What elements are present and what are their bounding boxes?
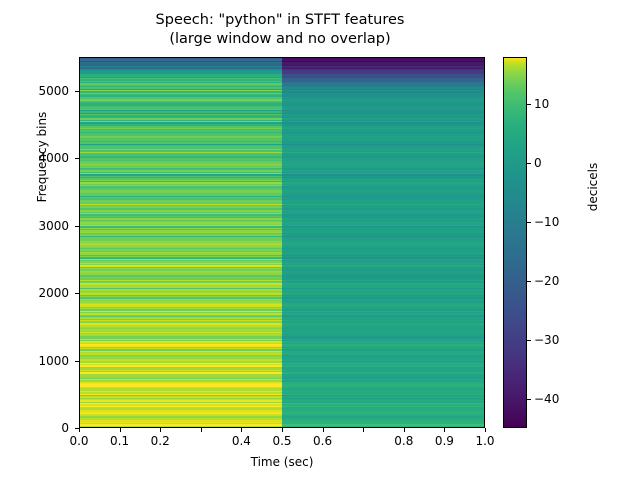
x-tick-label: 0.1 (110, 434, 129, 448)
x-tick-mark (79, 428, 80, 432)
spectrogram-heatmap (80, 58, 484, 427)
colorbar-tick-mark (527, 281, 531, 282)
x-tick-mark (241, 428, 242, 432)
colorbar-tick-mark (527, 340, 531, 341)
colorbar-tick-mark (527, 399, 531, 400)
x-tick-label: 0.4 (232, 434, 251, 448)
colorbar-tick-label: 10 (534, 97, 549, 111)
x-tick-label: 0.6 (313, 434, 332, 448)
y-tick-label: 0 (0, 421, 69, 435)
spectrogram-axes (79, 57, 485, 428)
figure-title: Speech: "python" in STFT features (large… (0, 11, 560, 49)
x-tick-mark (160, 428, 161, 432)
x-tick-label: 0.2 (151, 434, 170, 448)
y-tick-mark (75, 361, 79, 362)
y-tick-mark (75, 226, 79, 227)
y-tick-mark (75, 158, 79, 159)
y-tick-label: 2000 (0, 286, 69, 300)
colorbar (503, 57, 527, 428)
y-tick-mark (75, 293, 79, 294)
x-tick-label: 0.8 (394, 434, 413, 448)
y-axis-title: Frequency bins (35, 77, 49, 237)
y-tick-label: 1000 (0, 354, 69, 368)
colorbar-tick-mark (527, 163, 531, 164)
x-tick-mark (120, 428, 121, 432)
spectrogram-figure: Speech: "python" in STFT features (large… (0, 0, 640, 480)
y-tick-mark (75, 91, 79, 92)
x-tick-label: 0.9 (435, 434, 454, 448)
colorbar-tick-label: −10 (534, 215, 559, 229)
y-tick-mark (75, 428, 79, 429)
x-tick-mark (363, 428, 364, 432)
x-tick-mark (323, 428, 324, 432)
colorbar-title: decicels (586, 122, 600, 252)
x-tick-mark (282, 428, 283, 432)
x-tick-mark (485, 428, 486, 432)
colorbar-tick-label: −40 (534, 392, 559, 406)
x-axis-title: Time (sec) (79, 455, 485, 469)
x-tick-mark (404, 428, 405, 432)
x-tick-label: 0.0 (69, 434, 88, 448)
spectrogram-cell-silence (282, 426, 484, 428)
colorbar-tick-mark (527, 222, 531, 223)
colorbar-tick-label: −30 (534, 333, 559, 347)
x-tick-label: 0.5 (272, 434, 291, 448)
spectrogram-cell-speech (80, 426, 282, 428)
colorbar-tick-label: 0 (534, 156, 542, 170)
x-tick-mark (201, 428, 202, 432)
colorbar-tick-label: −20 (534, 274, 559, 288)
x-tick-label: 1.0 (475, 434, 494, 448)
colorbar-tick-mark (527, 104, 531, 105)
x-tick-mark (444, 428, 445, 432)
